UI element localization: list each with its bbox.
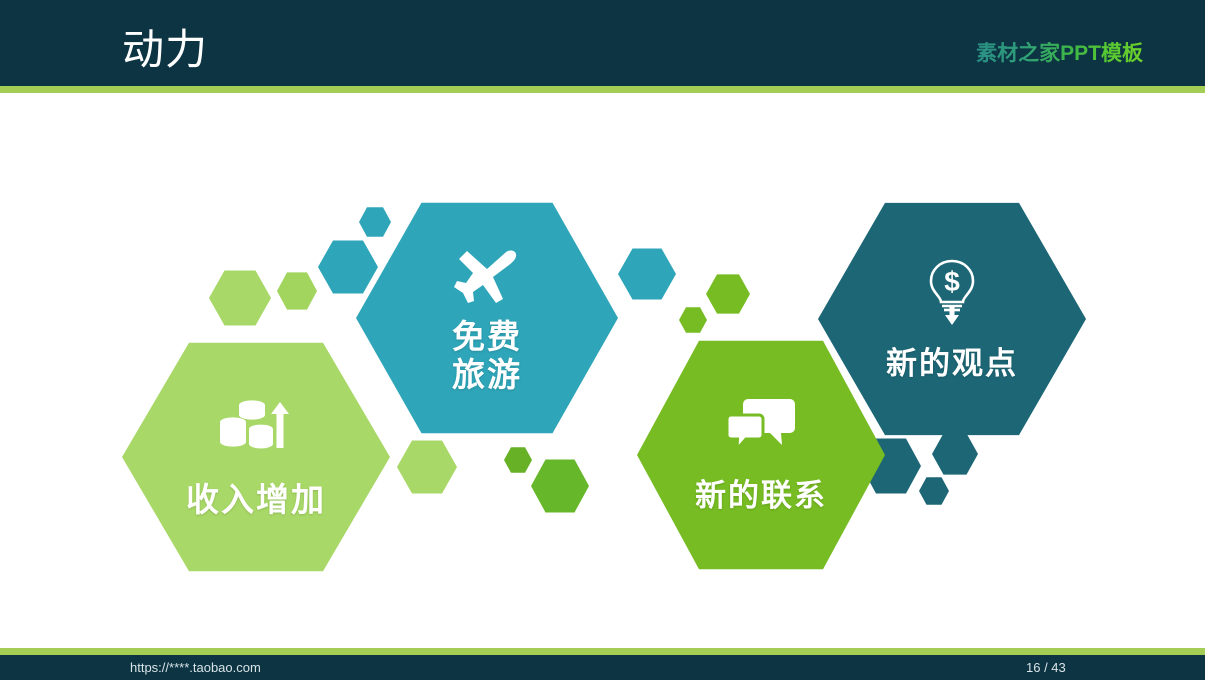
lightbulb-dollar-icon: $ — [919, 257, 985, 334]
hexagon-label-income: 收入增加 — [186, 481, 326, 519]
svg-text:$: $ — [944, 266, 960, 297]
hexagon-node-income[interactable]: 收入增加 — [122, 338, 390, 576]
decor-hexagon-dark-teal-medium — [932, 433, 978, 475]
watermark-label: 素材之家PPT模板 — [976, 42, 1143, 66]
airplane-icon — [453, 243, 521, 308]
decor-hexagon-green-bottom-medium — [531, 459, 589, 513]
decor-hexagon-green-center-small — [679, 307, 707, 333]
coins-stack-up-arrow-icon — [218, 396, 294, 465]
hexagon-label-travel: 免费 旅游 — [452, 318, 522, 393]
page-title: 动力 — [122, 28, 208, 72]
hexagon-node-ideas[interactable]: $ 新的观点 — [818, 198, 1086, 440]
slide-canvas: 动力 素材之家PPT模板 免费 旅游 — [0, 0, 1205, 680]
decor-hexagon-light-green-bottom — [397, 440, 457, 494]
hexagon-label-contacts: 新的联系 — [695, 478, 827, 513]
footer-url-link[interactable]: https://****.taobao.com — [130, 659, 261, 676]
hexagon-label-ideas: 新的观点 — [886, 346, 1018, 381]
decor-hexagon-teal-center — [618, 248, 676, 300]
footer-accent-rule — [0, 648, 1205, 655]
decor-hexagon-green-bottom-small — [504, 447, 532, 473]
decor-hexagon-light-green-large — [209, 270, 271, 326]
decor-hexagon-light-green-small — [277, 272, 317, 310]
hexagon-node-travel[interactable]: 免费 旅游 — [356, 198, 618, 438]
decor-hexagon-dark-teal-small — [919, 477, 949, 505]
decor-hexagon-green-center — [706, 274, 750, 314]
decor-hexagon-teal-medium — [318, 240, 378, 294]
hexagon-node-contacts[interactable]: 新的联系 — [637, 336, 885, 574]
speech-bubbles-icon — [726, 397, 796, 460]
header-accent-rule — [0, 86, 1205, 93]
page-number-indicator: 16 / 43 — [1026, 659, 1066, 676]
decor-hexagon-teal-small — [359, 207, 391, 237]
